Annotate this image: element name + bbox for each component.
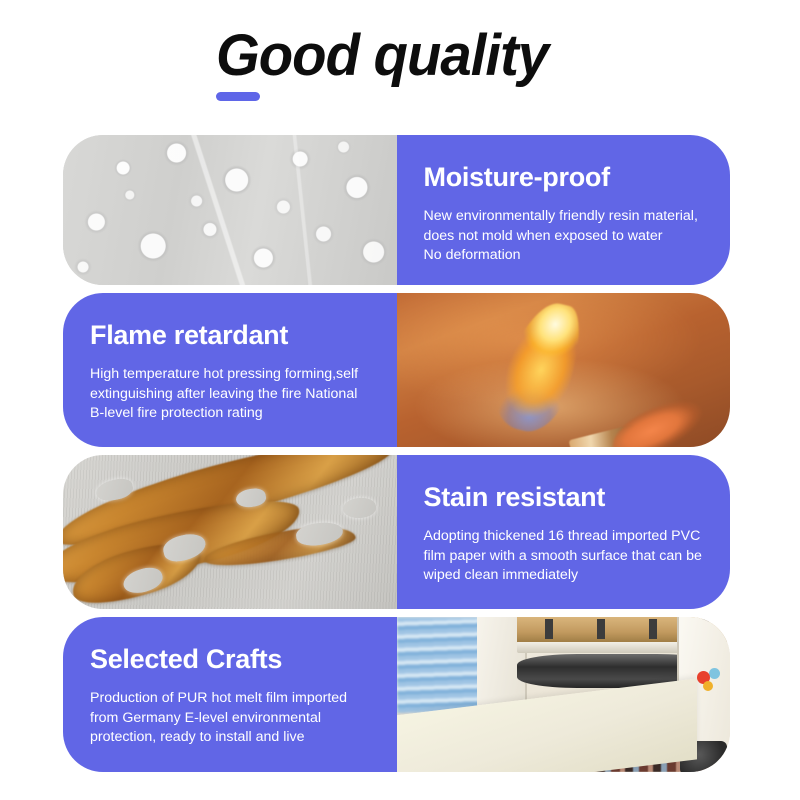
feature-card-flame-retardant[interactable]: Flame retardant High temperature hot pre… xyxy=(63,293,730,447)
feature-card-text-pane: Selected Crafts Production of PUR hot me… xyxy=(63,617,397,772)
factory-machine-scene xyxy=(397,617,731,772)
feature-card-body: New environmentally friendly resin mater… xyxy=(424,207,707,266)
flame-icon xyxy=(486,296,594,437)
feature-card-text-pane: Stain resistant Adopting thickened 16 th… xyxy=(397,455,731,609)
feature-card-body-line: does not mold when exposed to water xyxy=(424,227,707,247)
feature-card-moisture-proof[interactable]: Moisture-proof New environmentally frien… xyxy=(63,135,730,285)
feature-card-heading: Selected Crafts xyxy=(90,643,373,675)
page-title: Good quality xyxy=(216,22,548,89)
feature-card-body-line: from Germany E-level environmental xyxy=(90,709,373,729)
amber-stain-photo xyxy=(63,455,397,609)
feature-card-text-pane: Moisture-proof New environmentally frien… xyxy=(397,135,731,285)
feature-card-heading: Flame retardant xyxy=(90,319,373,351)
water-droplets-photo xyxy=(63,135,397,285)
title-accent-bar xyxy=(216,92,260,101)
feature-card-body-line: New environmentally friendly resin mater… xyxy=(424,207,707,227)
feature-card-stain-resistant[interactable]: Stain resistant Adopting thickened 16 th… xyxy=(63,455,730,609)
window-blinds xyxy=(397,617,487,713)
feature-card-body-line: film paper with a smooth surface that ca… xyxy=(424,547,707,567)
feature-card-body-line: Production of PUR hot melt film imported xyxy=(90,689,373,709)
feature-card-body-line: wiped clean immediately xyxy=(424,566,707,586)
feature-card-body-line: Adopting thickened 16 thread imported PV… xyxy=(424,527,707,547)
lighter-body xyxy=(605,389,715,447)
indicator-dot-yellow xyxy=(703,681,713,691)
feature-card-body-line: High temperature hot pressing forming,se… xyxy=(90,365,373,385)
feature-card-selected-crafts[interactable]: Selected Crafts Production of PUR hot me… xyxy=(63,617,730,772)
feature-card-body: Adopting thickened 16 thread imported PV… xyxy=(424,527,707,586)
page-header: Good quality xyxy=(0,0,800,125)
feature-card-heading: Stain resistant xyxy=(424,481,707,513)
feature-card-body-line: No deformation xyxy=(424,246,707,266)
brushed-surface-texture xyxy=(63,455,397,609)
feature-card-heading: Moisture-proof xyxy=(424,161,707,193)
wood-grain-texture xyxy=(397,293,731,447)
feature-card-body-line: protection, ready to install and live xyxy=(90,728,373,748)
flame-on-board-photo xyxy=(397,293,731,447)
feature-card-text-pane: Flame retardant High temperature hot pre… xyxy=(63,293,397,447)
laminating-machine-photo xyxy=(397,617,731,772)
stain-gap xyxy=(342,496,377,519)
feature-card-body: High temperature hot pressing forming,se… xyxy=(90,365,373,424)
feature-card-body-line: B-level fire protection rating xyxy=(90,404,373,424)
feature-card-body-line: extinguishing after leaving the fire Nat… xyxy=(90,385,373,405)
water-droplets-texture xyxy=(63,135,397,285)
feature-card-body: Production of PUR hot melt film imported… xyxy=(90,689,373,748)
